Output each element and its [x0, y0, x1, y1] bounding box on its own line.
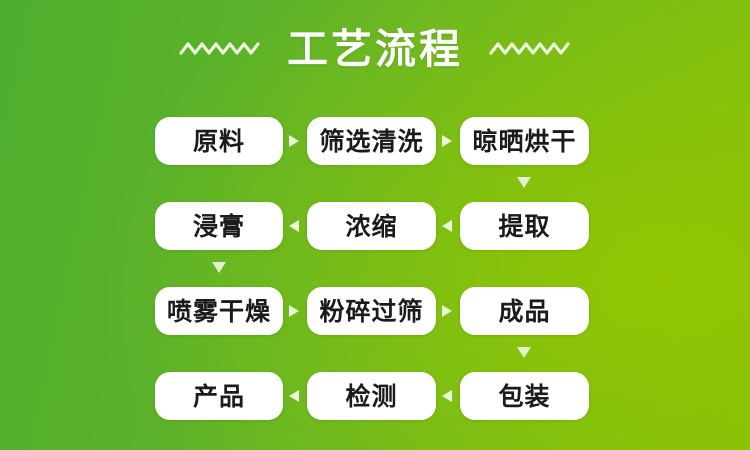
flow-node-label: 筛选清洗 — [319, 129, 423, 154]
flow-node-packaging[interactable]: 包装 — [460, 372, 589, 420]
process-flow-diagram: 原料 筛选清洗 晾晒烘干 浸膏 浓缩 提取 — [155, 117, 589, 420]
flow-node-product[interactable]: 产品 — [155, 372, 283, 420]
arrow-right-icon — [442, 135, 452, 147]
flow-row-2: 浸膏 浓缩 提取 — [155, 202, 589, 250]
flow-node-raw-material[interactable]: 原料 — [155, 117, 283, 165]
flow-node-inspection[interactable]: 检测 — [307, 372, 436, 420]
flow-node-label: 喷雾干燥 — [167, 299, 271, 324]
flow-node-crushing-sieving[interactable]: 粉碎过筛 — [307, 287, 436, 335]
flow-node-label: 原料 — [193, 129, 245, 154]
flow-node-label: 成品 — [498, 299, 550, 324]
flow-node-label: 检测 — [345, 384, 397, 409]
process-flow-poster: 工艺流程 原料 筛选清洗 晾晒烘干 浸膏 — [0, 0, 750, 450]
page-title-row: 工艺流程 — [0, 18, 750, 80]
flow-node-screening-washing[interactable]: 筛选清洗 — [307, 117, 436, 165]
arrow-right-icon — [289, 135, 299, 147]
flow-node-label: 晾晒烘干 — [472, 129, 576, 154]
flow-node-spray-drying[interactable]: 喷雾干燥 — [155, 287, 283, 335]
arrow-down-icon — [517, 177, 531, 188]
flow-node-sun-drying[interactable]: 晾晒烘干 — [460, 117, 589, 165]
flow-node-label: 提取 — [498, 214, 550, 239]
flow-node-label: 包装 — [498, 384, 550, 409]
zigzag-left-icon — [179, 39, 261, 59]
flow-node-label: 浸膏 — [193, 214, 245, 239]
flow-row-1: 原料 筛选清洗 晾晒烘干 — [155, 117, 589, 165]
flow-node-concentration[interactable]: 浓缩 — [307, 202, 436, 250]
arrow-down-icon — [517, 347, 531, 358]
arrow-right-icon — [442, 305, 452, 317]
arrow-down-icon — [212, 262, 226, 273]
flow-node-label: 粉碎过筛 — [319, 299, 423, 324]
arrow-left-icon — [442, 390, 452, 402]
flow-node-extract-paste[interactable]: 浸膏 — [155, 202, 283, 250]
arrow-left-icon — [289, 390, 299, 402]
flow-node-finished-goods[interactable]: 成品 — [460, 287, 589, 335]
flow-row-3: 喷雾干燥 粉碎过筛 成品 — [155, 287, 589, 335]
page-title: 工艺流程 — [287, 29, 463, 70]
flow-row-4: 产品 检测 包装 — [155, 372, 589, 420]
zigzag-right-icon — [489, 39, 571, 59]
arrow-right-icon — [289, 305, 299, 317]
flow-node-extraction[interactable]: 提取 — [460, 202, 589, 250]
flow-node-label: 浓缩 — [345, 214, 397, 239]
arrow-left-icon — [442, 220, 452, 232]
flow-node-label: 产品 — [193, 384, 245, 409]
arrow-left-icon — [289, 220, 299, 232]
